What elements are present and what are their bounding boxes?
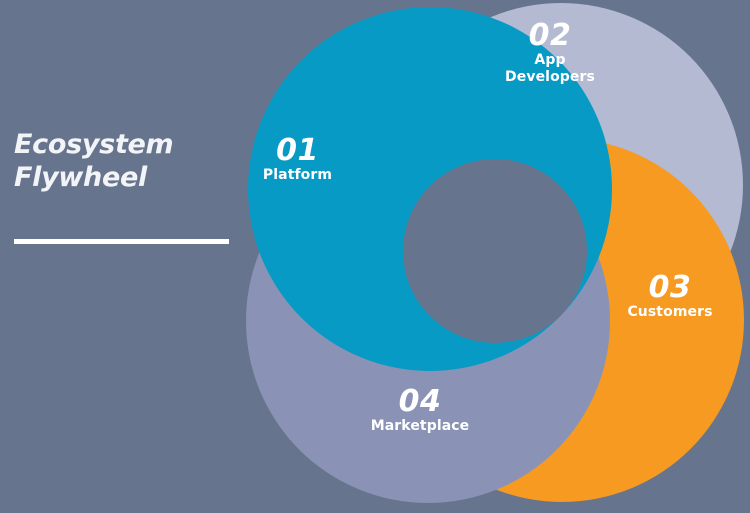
flywheel-hub bbox=[403, 159, 587, 343]
slide-canvas: Ecosystem Flywheel 01 Platform 02 App De… bbox=[0, 0, 750, 513]
flywheel-diagram bbox=[0, 0, 750, 513]
